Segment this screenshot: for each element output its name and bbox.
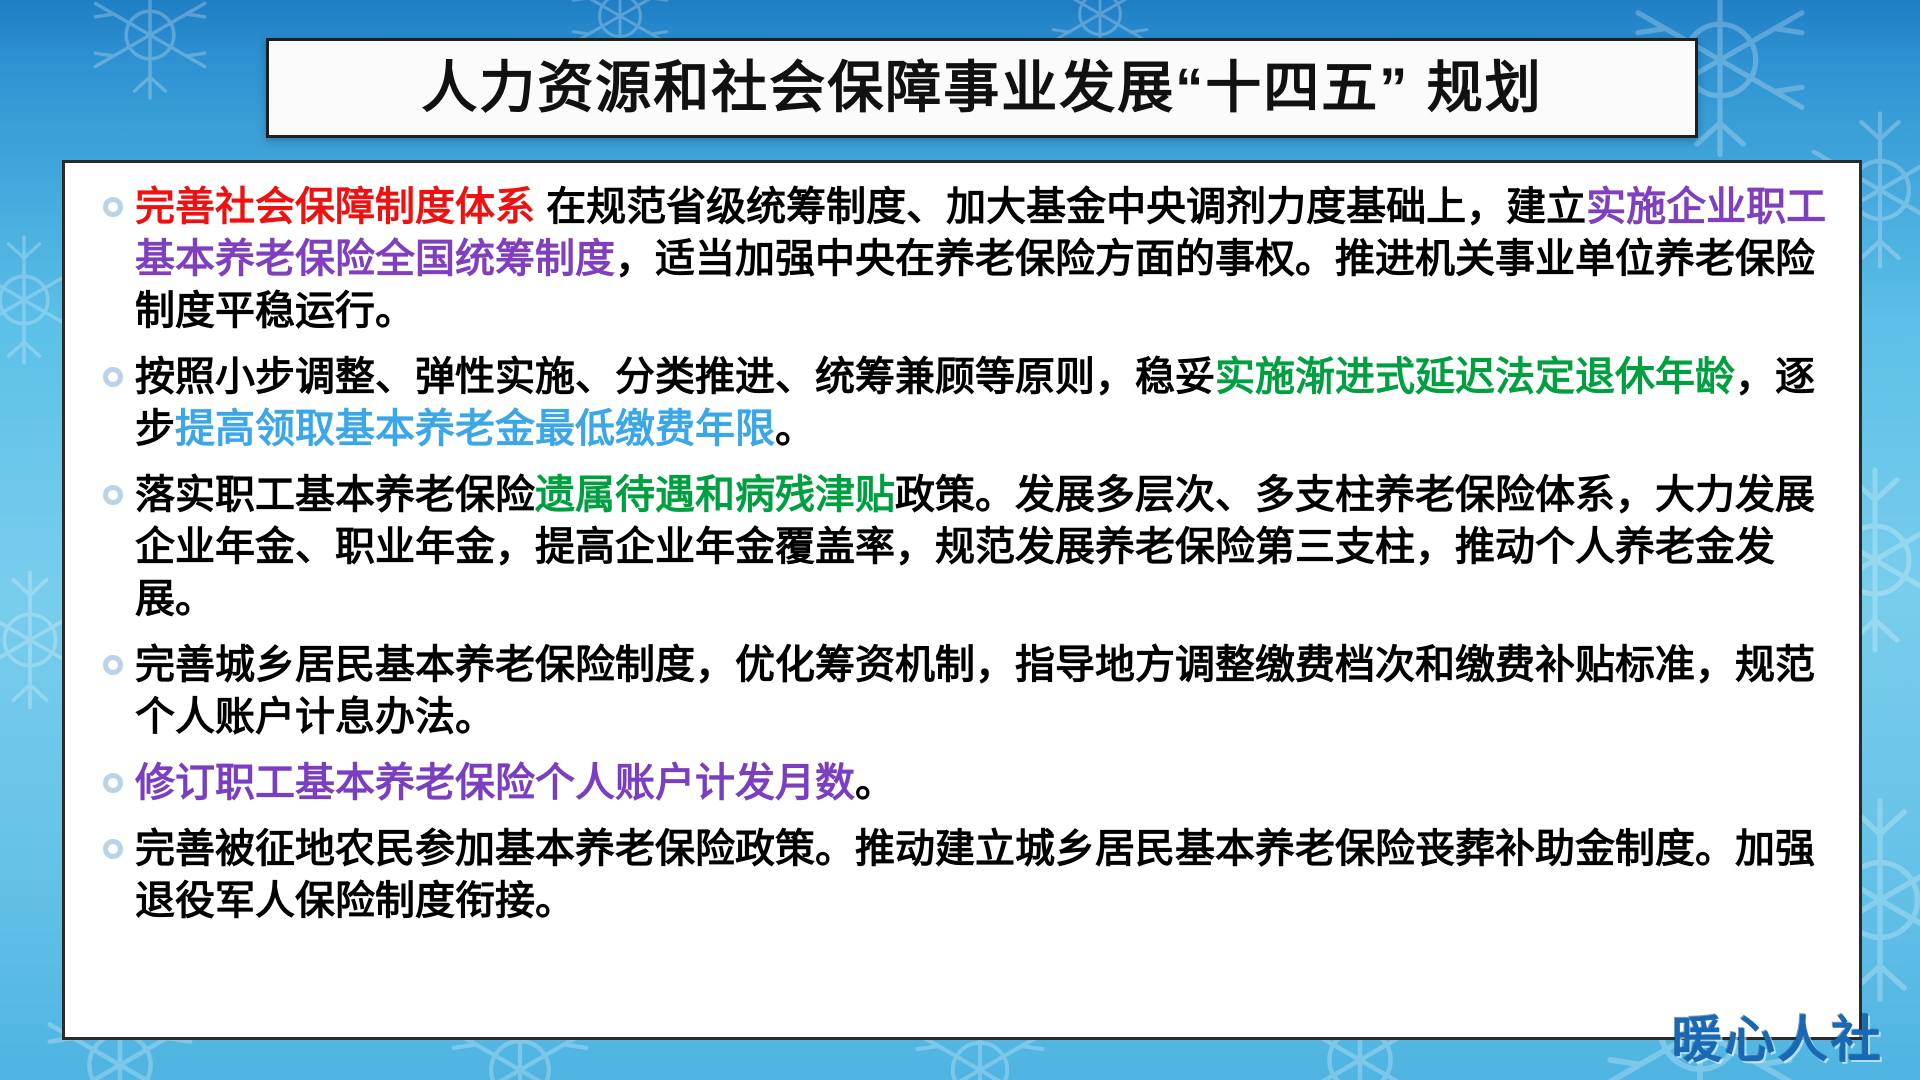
bullet-text: 按照小步调整、弹性实施、分类推进、统筹兼顾等原则，稳妥实施渐进式延迟法定退休年龄…: [135, 351, 1833, 455]
ring-bullet-icon: [103, 655, 123, 675]
ring-bullet-icon: [91, 757, 135, 793]
bullet-text: 完善被征地农民参加基本养老保险政策。推动建立城乡居民基本养老保险丧葬补助金制度。…: [135, 823, 1833, 927]
bullet-item: 按照小步调整、弹性实施、分类推进、统筹兼顾等原则，稳妥实施渐进式延迟法定退休年龄…: [91, 351, 1833, 455]
bullet-list: 完善社会保障制度体系 在规范省级统筹制度、加大基金中央调剂力度基础上，建立实施企…: [91, 181, 1833, 927]
bullet-text: 修订职工基本养老保险个人账户计发月数。: [135, 757, 1833, 809]
text-run: 遗属待遇和病残津贴: [535, 473, 895, 517]
bullet-text: 完善城乡居民基本养老保险制度，优化筹资机制，指导地方调整缴费档次和缴费补贴标准，…: [135, 639, 1833, 743]
text-run: 。: [855, 761, 895, 805]
title-box: 人力资源和社会保障事业发展“十四五” 规划: [266, 38, 1698, 138]
ring-bullet-icon: [103, 197, 123, 217]
ring-bullet-icon: [91, 469, 135, 505]
text-run: [535, 185, 546, 229]
watermark-logo: 暖心人社: [1672, 1000, 1884, 1072]
ring-bullet-icon: [103, 773, 123, 793]
text-run: 修订职工基本养老保险个人账户计发月数: [135, 761, 855, 805]
bullet-item: 完善社会保障制度体系 在规范省级统筹制度、加大基金中央调剂力度基础上，建立实施企…: [91, 181, 1833, 337]
bullet-item: 完善被征地农民参加基本养老保险政策。推动建立城乡居民基本养老保险丧葬补助金制度。…: [91, 823, 1833, 927]
bullet-item: 完善城乡居民基本养老保险制度，优化筹资机制，指导地方调整缴费档次和缴费补贴标准，…: [91, 639, 1833, 743]
ring-bullet-icon: [91, 181, 135, 217]
text-run: 完善社会保障制度体系: [135, 185, 535, 229]
text-run: 按照小步调整、弹性实施、分类推进、统筹兼顾等原则，稳妥: [135, 355, 1215, 399]
ring-bullet-icon: [91, 351, 135, 387]
slide-canvas: 人力资源和社会保障事业发展“十四五” 规划 完善社会保障制度体系 在规范省级统筹…: [0, 0, 1920, 1080]
bullet-item: 落实职工基本养老保险遗属待遇和病残津贴政策。发展多层次、多支柱养老保险体系，大力…: [91, 469, 1833, 625]
ring-bullet-icon: [103, 839, 123, 859]
page-title: 人力资源和社会保障事业发展“十四五” 规划: [421, 60, 1543, 116]
text-run: 实施渐进式延迟法定退休年龄: [1215, 355, 1735, 399]
content-box: 完善社会保障制度体系 在规范省级统筹制度、加大基金中央调剂力度基础上，建立实施企…: [62, 160, 1862, 1040]
bullet-text: 完善社会保障制度体系 在规范省级统筹制度、加大基金中央调剂力度基础上，建立实施企…: [135, 181, 1833, 337]
text-run: 在规范省级统筹制度、加大基金中央调剂力度基础上，建立: [546, 185, 1586, 229]
bullet-item: 修订职工基本养老保险个人账户计发月数。: [91, 757, 1833, 809]
ring-bullet-icon: [91, 639, 135, 675]
ring-bullet-icon: [103, 485, 123, 505]
text-run: 。: [775, 407, 815, 451]
text-run: 提高领取基本养老金最低缴费年限: [175, 407, 775, 451]
bullet-text: 落实职工基本养老保险遗属待遇和病残津贴政策。发展多层次、多支柱养老保险体系，大力…: [135, 469, 1833, 625]
text-run: 落实职工基本养老保险: [135, 473, 535, 517]
text-run: 完善被征地农民参加基本养老保险政策。推动建立城乡居民基本养老保险丧葬补助金制度。…: [135, 827, 1815, 923]
ring-bullet-icon: [103, 367, 123, 387]
ring-bullet-icon: [91, 823, 135, 859]
text-run: 完善城乡居民基本养老保险制度，优化筹资机制，指导地方调整缴费档次和缴费补贴标准，…: [135, 643, 1815, 739]
